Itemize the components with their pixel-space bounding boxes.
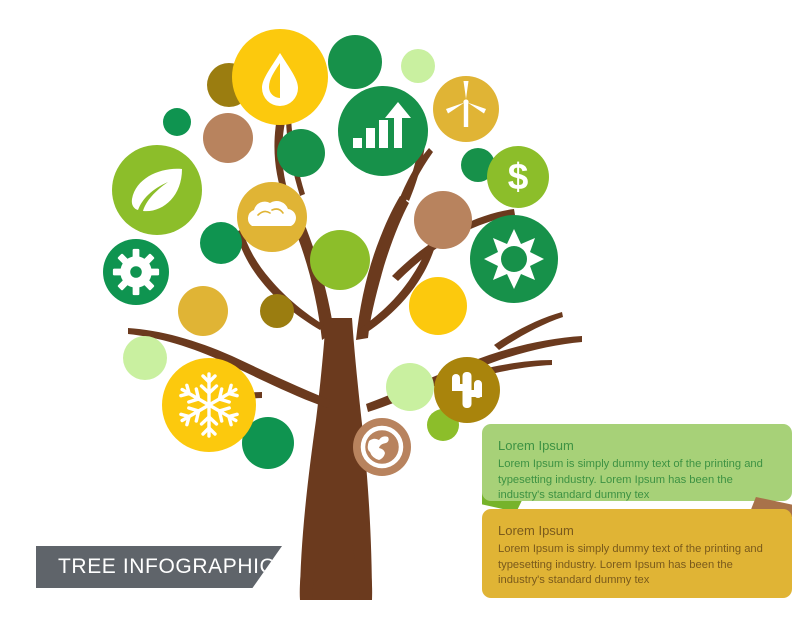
plain-circle-node xyxy=(386,363,434,411)
node-water-drop[interactable] xyxy=(232,29,328,125)
plain-circle-node xyxy=(414,191,472,249)
node-windmill[interactable] xyxy=(433,76,499,142)
node-cactus[interactable] xyxy=(434,357,500,423)
plain-circle-node xyxy=(328,35,382,89)
node-globe[interactable] xyxy=(353,418,411,476)
plain-circle-node xyxy=(163,108,191,136)
page-title: TREE INFOGRAPHIC xyxy=(36,555,275,579)
plain-circle-node xyxy=(310,230,370,290)
node-dollar[interactable] xyxy=(487,146,549,208)
sun-icon xyxy=(484,229,544,289)
callout-green-heading: Lorem Ipsum xyxy=(498,438,776,454)
plain-circle-node xyxy=(203,113,253,163)
plain-circle-node xyxy=(277,129,325,177)
node-sun[interactable] xyxy=(470,215,558,303)
node-gear[interactable] xyxy=(103,239,169,305)
plain-circle-node xyxy=(401,49,435,83)
gear-icon xyxy=(113,249,159,295)
plain-circle-node xyxy=(409,277,467,335)
node-leaf[interactable] xyxy=(112,145,202,235)
callout-green[interactable]: Lorem Ipsum Lorem Ipsum is simply dummy … xyxy=(482,424,792,501)
infographic-canvas: $ xyxy=(0,0,800,623)
plain-circle-node xyxy=(260,294,294,328)
node-bar-chart-growth[interactable] xyxy=(338,86,428,176)
callout-green-body: Lorem Ipsum is simply dummy text of the … xyxy=(498,457,776,503)
callout-gold[interactable]: Lorem Ipsum Lorem Ipsum is simply dummy … xyxy=(482,509,792,598)
dollar-icon xyxy=(508,156,529,197)
title-banner: TREE INFOGRAPHIC xyxy=(36,546,282,588)
callout-gold-body: Lorem Ipsum is simply dummy text of the … xyxy=(498,542,776,588)
callout-gold-heading: Lorem Ipsum xyxy=(498,523,776,539)
node-cloud[interactable] xyxy=(237,182,307,252)
plain-circle-node xyxy=(178,286,228,336)
plain-circle-node xyxy=(123,336,167,380)
plain-circle-node xyxy=(200,222,242,264)
node-snowflake[interactable] xyxy=(162,358,256,452)
